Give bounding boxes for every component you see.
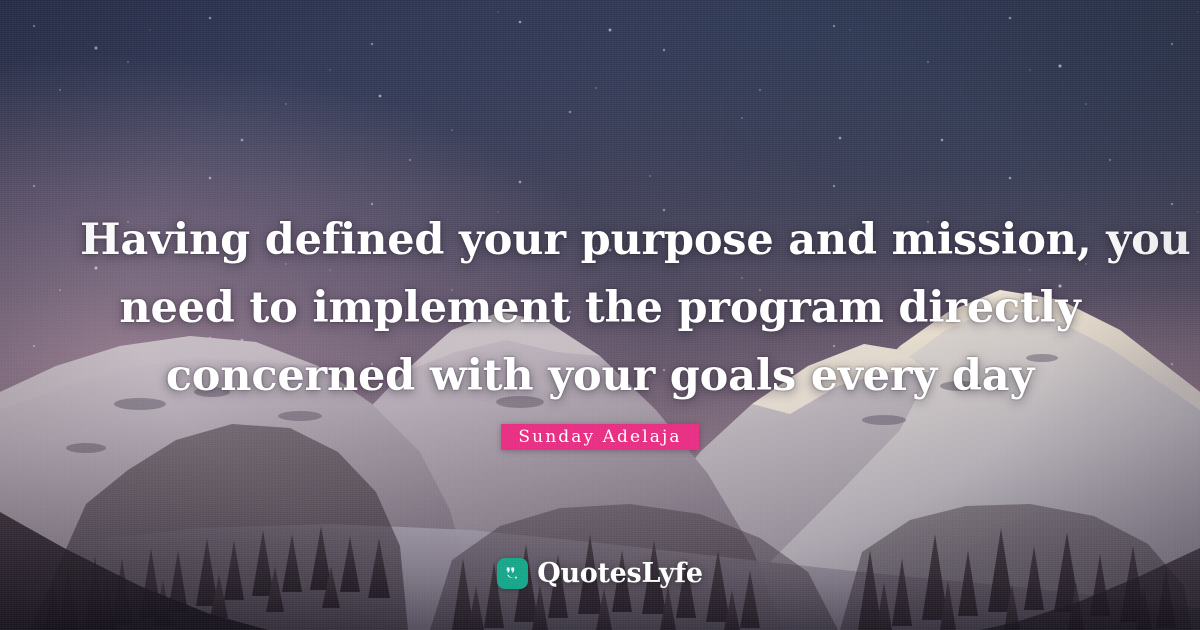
brand-watermark[interactable]: QuotesLyfe (0, 558, 1200, 589)
quote-card: Having defined your purpose and mission,… (0, 0, 1200, 630)
brand-name: QuotesLyfe (537, 558, 703, 589)
quote-text-block: Having defined your purpose and mission,… (0, 206, 1200, 410)
quote-line-2: need to implement the program directly (80, 274, 1120, 342)
author-name-badge[interactable]: Sunday Adelaja (501, 424, 698, 450)
quote-line-3: concerned with your goals every day (80, 342, 1120, 410)
quote-line-1: Having defined your purpose and mission,… (80, 206, 1120, 274)
quote-smile-icon (497, 558, 528, 589)
author-badge-container: Sunday Adelaja (0, 424, 1200, 450)
